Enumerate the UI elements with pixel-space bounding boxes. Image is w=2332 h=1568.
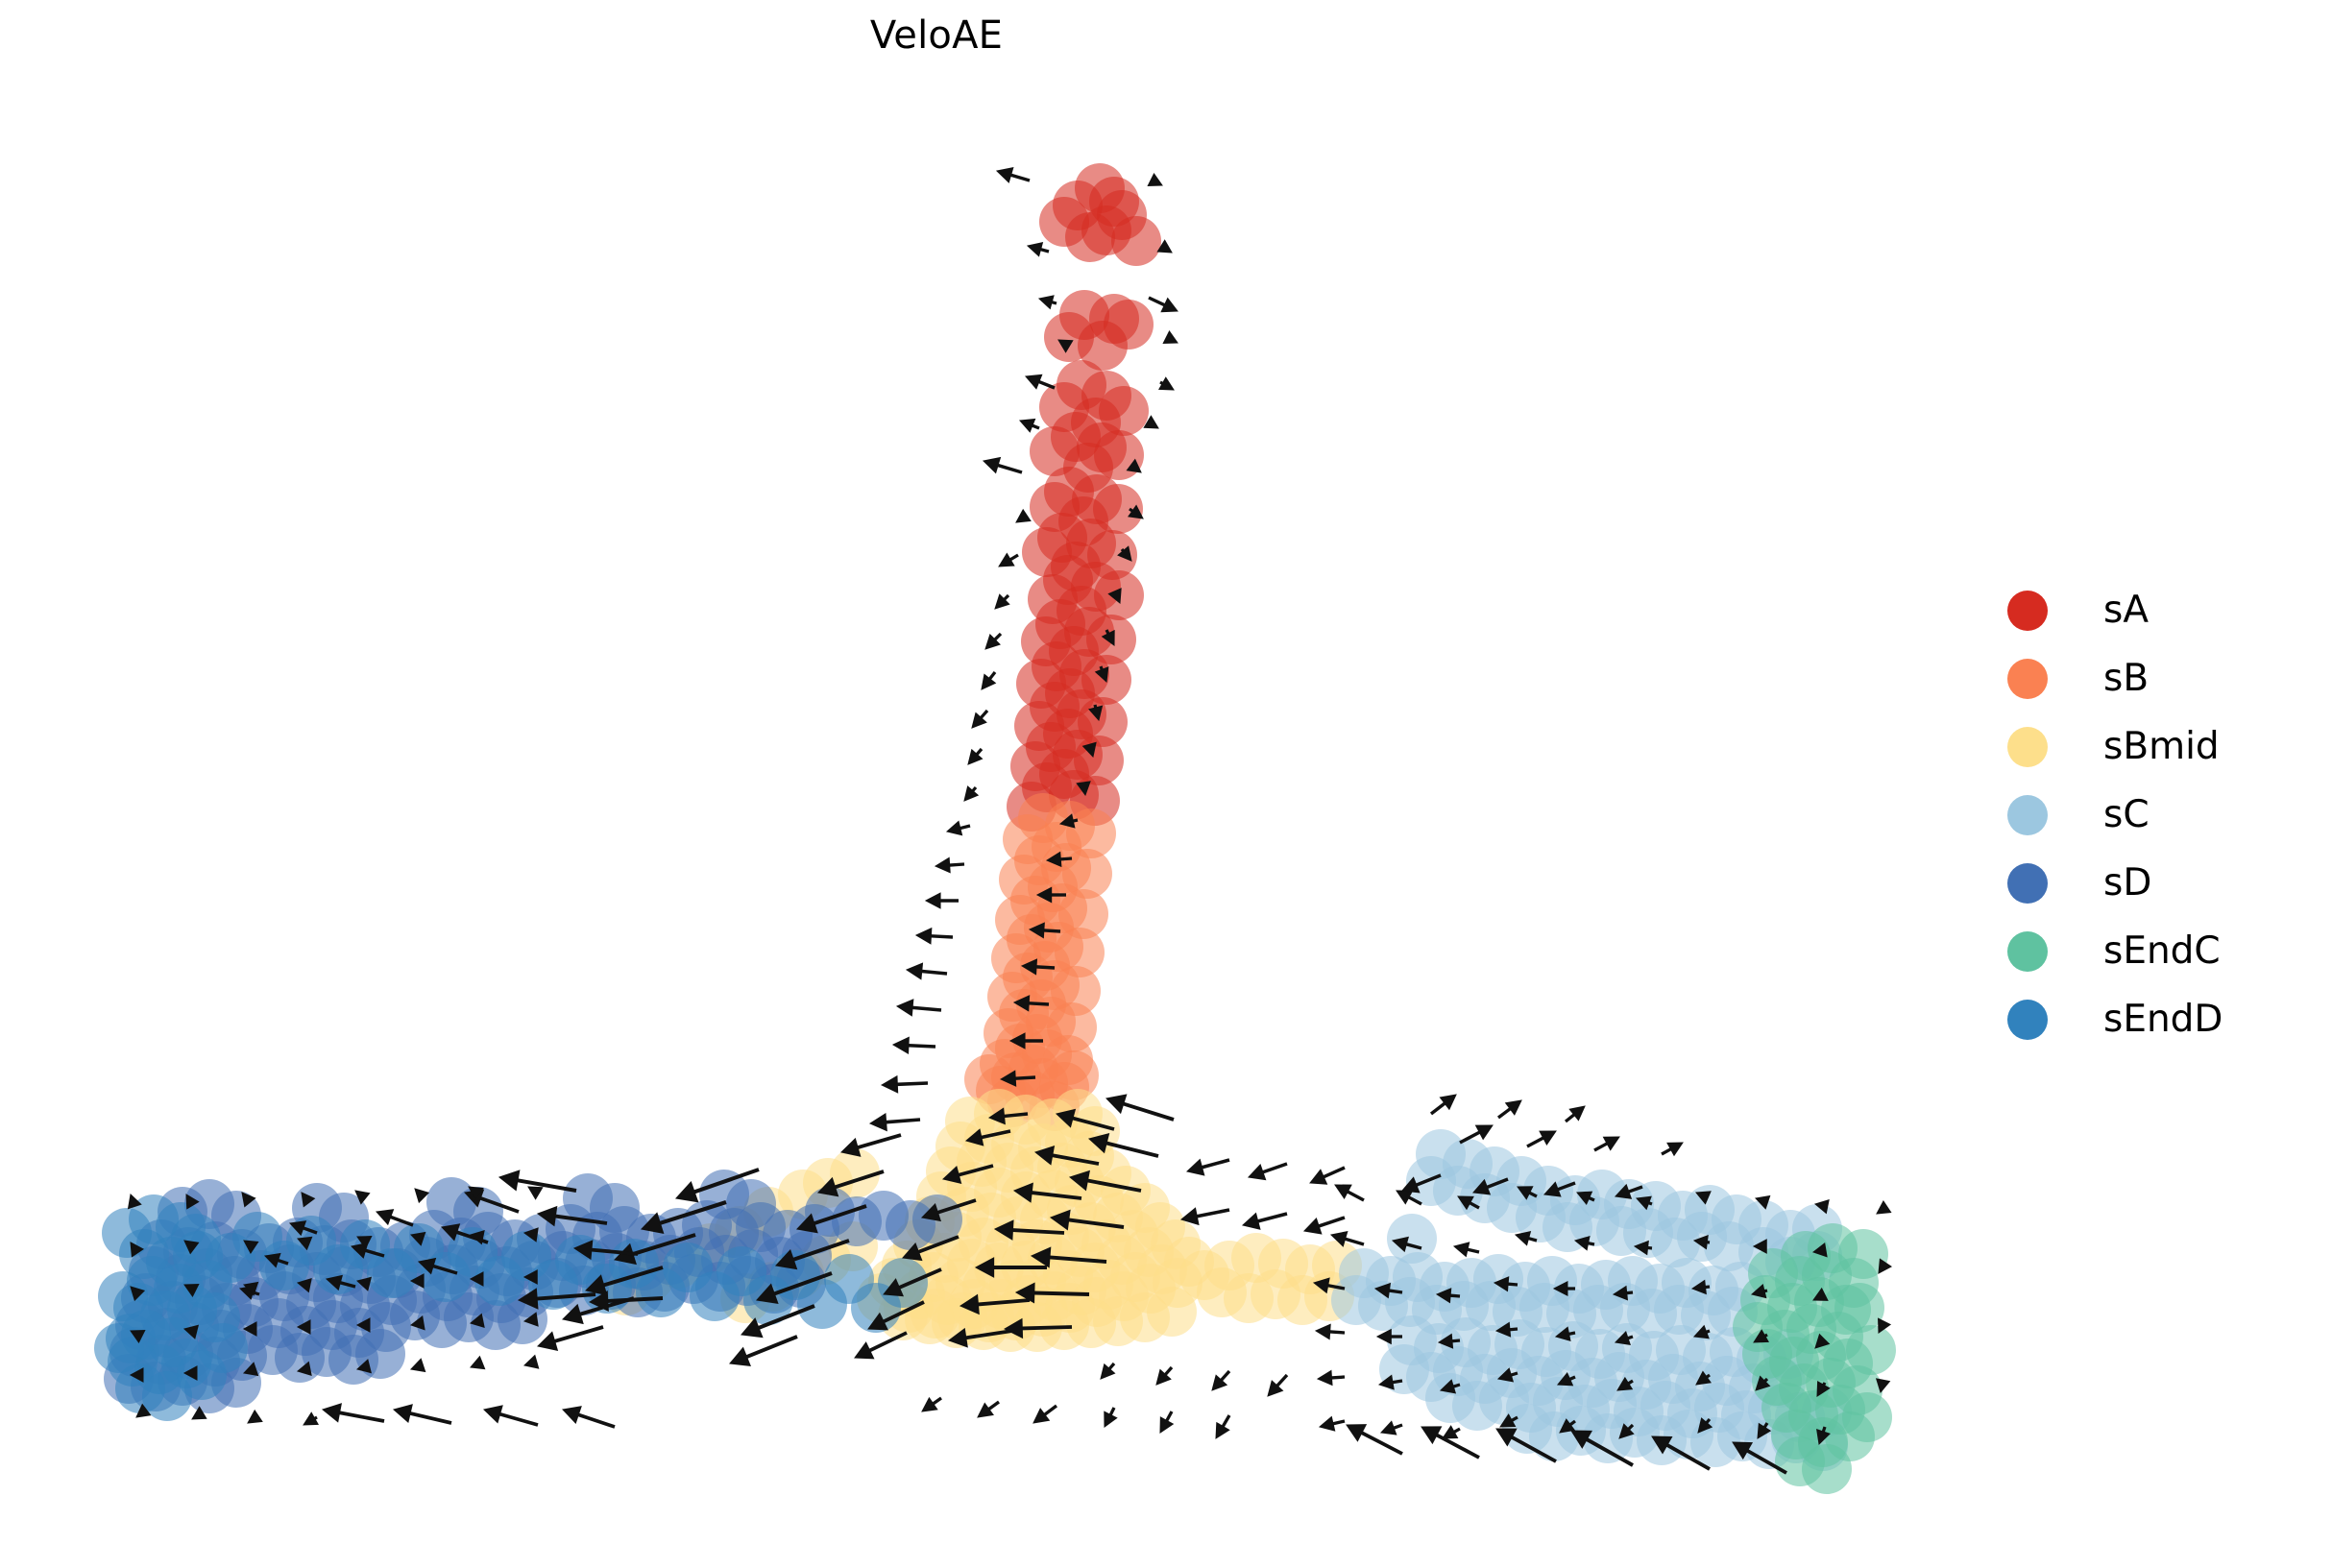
arrow-head: [1304, 1218, 1322, 1234]
arrow-shaft: [1060, 858, 1072, 859]
arrow-head: [471, 1357, 485, 1369]
arrow-shaft: [1594, 1144, 1607, 1150]
arrow-shaft: [1393, 1381, 1402, 1383]
arrow-shaft: [1324, 1168, 1345, 1177]
scatter-point: [1846, 1325, 1896, 1375]
arrow-shaft: [1015, 1077, 1035, 1078]
arrow-shaft: [1130, 509, 1132, 511]
arrow-shaft: [1263, 1164, 1287, 1172]
arrow-shaft: [1823, 1427, 1825, 1432]
arrow-head: [1026, 374, 1042, 388]
velocity-arrow: [1527, 1131, 1556, 1146]
arrow-shaft: [1333, 1421, 1345, 1424]
velocity-arrow: [1106, 1095, 1174, 1120]
arrow-shaft: [950, 864, 964, 865]
velocity-arrow: [882, 1076, 928, 1093]
velocity-arrow: [524, 1356, 539, 1368]
arrow-head: [1028, 243, 1042, 256]
arrow-shaft: [1045, 1406, 1057, 1414]
arrow-shaft: [1106, 630, 1108, 634]
arrow-head: [926, 893, 940, 908]
velocity-arrow: [870, 1114, 920, 1131]
arrow-shaft: [1527, 1138, 1543, 1146]
arrow-head: [984, 458, 1000, 473]
velocity-arrow: [897, 1000, 941, 1016]
velocity-arrow: [1033, 1406, 1057, 1423]
arrow-shaft: [1319, 1218, 1345, 1226]
point-series-sA: [1007, 163, 1161, 832]
arrow-head: [323, 1404, 341, 1422]
velocity-arrow: [1149, 298, 1178, 312]
arrow-head: [1516, 1232, 1530, 1245]
arrow-shaft: [1010, 555, 1018, 560]
point-series-sB: [964, 793, 1116, 1131]
arrow-shaft: [1452, 1340, 1460, 1341]
arrow-head: [1016, 510, 1031, 522]
arrow-head: [882, 1076, 898, 1093]
arrow-shaft: [1277, 1375, 1287, 1386]
scatter-point: [1781, 1231, 1831, 1281]
arrow-head: [1187, 1160, 1204, 1175]
velocity-arrow: [1381, 1421, 1402, 1435]
scatter-point: [1039, 197, 1089, 247]
legend[interactable]: sA sB sBmid sC sD sEndC sEndD: [2007, 576, 2324, 1053]
scatter-plot-canvas[interactable]: [0, 0, 1979, 1568]
arrow-shaft: [1005, 595, 1008, 599]
scatter-svg: [0, 0, 1979, 1568]
velocity-arrow: [1662, 1143, 1683, 1155]
arrow-shaft: [1167, 1411, 1172, 1420]
velocity-arrow: [1039, 296, 1057, 309]
arrow-head: [1163, 331, 1178, 344]
velocity-arrow: [1216, 1415, 1229, 1438]
arrow-shaft: [578, 1414, 615, 1427]
velocity-arrow: [1105, 1408, 1117, 1427]
velocity-arrow: [1020, 420, 1039, 432]
velocity-arrow: [999, 554, 1018, 567]
arrow-shaft: [990, 672, 995, 679]
arrow-shaft: [1529, 1239, 1537, 1241]
arrow-head: [524, 1356, 539, 1368]
scatter-point: [177, 1350, 227, 1400]
scatter-point: [878, 1258, 928, 1308]
arrow-head: [394, 1405, 412, 1422]
velocity-arrow: [1243, 1214, 1287, 1230]
arrow-shaft: [887, 1120, 920, 1122]
velocity-arrow: [415, 1189, 428, 1202]
arrow-shaft: [1566, 1115, 1574, 1122]
velocity-arrow: [1460, 1125, 1493, 1143]
arrow-head: [248, 1411, 262, 1423]
legend-swatch-sEndD: [2007, 1000, 2048, 1040]
arrow-shaft: [1202, 1160, 1229, 1168]
arrow-shaft: [1044, 930, 1060, 931]
arrow-shaft: [1437, 1435, 1479, 1458]
arrow-shaft: [1258, 1214, 1287, 1221]
arrow-shaft: [858, 1135, 901, 1147]
velocity-arrow: [1431, 1095, 1456, 1114]
legend-item-sA[interactable]: sA: [2007, 576, 2324, 644]
arrow-shaft: [1330, 1332, 1345, 1333]
velocity-arrow: [1026, 374, 1055, 388]
arrow-head: [893, 1037, 909, 1053]
legend-label-sB: sB: [2103, 660, 2149, 697]
arrow-shaft: [1511, 1373, 1518, 1375]
arrow-shaft: [1052, 302, 1057, 303]
velocity-arrow: [916, 929, 953, 944]
arrow-shaft: [1022, 1327, 1072, 1328]
velocity-arrow: [1498, 1100, 1521, 1118]
velocity-arrow: [1318, 1370, 1345, 1385]
arrow-shaft: [746, 1337, 797, 1357]
velocity-arrow: [1187, 1160, 1229, 1175]
arrow-head: [676, 1182, 698, 1202]
arrow-shaft: [555, 1327, 603, 1341]
arrow-shaft: [1394, 1425, 1402, 1428]
arrow-head: [997, 168, 1013, 182]
velocity-arrow: [964, 786, 978, 801]
velocity-arrow: [1159, 377, 1174, 390]
arrow-shaft: [1628, 1337, 1633, 1339]
arrow-shaft: [912, 1007, 941, 1010]
arrow-head: [1318, 1370, 1332, 1385]
arrow-head: [377, 1210, 394, 1224]
arrow-shaft: [1765, 1379, 1767, 1381]
velocity-arrow: [935, 857, 964, 872]
velocity-arrow: [1181, 1208, 1229, 1224]
arrow-shaft: [1032, 425, 1039, 428]
arrow-head: [1440, 1095, 1456, 1109]
arrow-head: [528, 1187, 543, 1199]
arrow-shaft: [973, 787, 976, 791]
velocity-arrow: [985, 634, 1001, 649]
velocity-arrow: [1594, 1137, 1619, 1150]
velocity-arrow: [1249, 1164, 1287, 1180]
arrow-shaft: [897, 1083, 928, 1084]
scatter-point: [590, 1183, 640, 1233]
arrow-shaft: [981, 711, 987, 717]
arrow-shaft: [1569, 1333, 1575, 1334]
velocity-arrow: [841, 1135, 901, 1156]
velocity-arrow: [968, 749, 983, 764]
legend-label-sEndC: sEndC: [2103, 932, 2221, 970]
arrow-shaft: [1498, 1109, 1510, 1118]
velocity-arrow: [730, 1337, 797, 1365]
arrow-shaft: [1223, 1415, 1229, 1426]
velocity-arrow: [926, 893, 959, 908]
velocity-arrow: [1316, 1324, 1345, 1339]
velocity-arrow: [377, 1210, 413, 1225]
arrow-head: [1877, 1201, 1891, 1214]
velocity-arrow: [1268, 1375, 1287, 1396]
arrow-shaft: [1011, 175, 1030, 181]
arrow-shaft: [1508, 1284, 1518, 1285]
arrow-shaft: [931, 936, 953, 937]
arrow-head: [1020, 420, 1035, 432]
arrow-shaft: [1589, 1243, 1594, 1244]
arrow-head: [1506, 1100, 1521, 1115]
legend-label-sA: sA: [2103, 591, 2149, 629]
velocity-arrow: [1016, 510, 1031, 522]
legend-item-sEndD[interactable]: sEndD: [2007, 985, 2324, 1053]
legend-swatch-sBmid: [2007, 727, 2048, 767]
arrow-shaft: [1222, 1371, 1229, 1380]
arrow-head: [907, 963, 923, 979]
velocity-arrow: [984, 458, 1022, 473]
arrow-shaft: [1197, 1210, 1229, 1217]
arrow-shaft: [1362, 1433, 1402, 1454]
arrow-head: [1039, 296, 1054, 309]
velocity-arrow: [1566, 1106, 1585, 1122]
arrow-shaft: [1149, 298, 1164, 305]
arrow-shaft: [340, 1412, 384, 1421]
scatter-point: [355, 1329, 405, 1379]
arrow-head: [916, 929, 932, 944]
velocity-arrow: [972, 711, 987, 728]
arrow-shaft: [1165, 1367, 1172, 1374]
scatter-point: [726, 1179, 776, 1229]
velocity-arrow: [394, 1405, 451, 1423]
velocity-arrow: [893, 1037, 935, 1053]
arrow-head: [1320, 1416, 1335, 1431]
arrow-head: [922, 1398, 937, 1411]
arrow-head: [1033, 1409, 1049, 1423]
velocity-arrow: [1212, 1371, 1229, 1390]
arrow-head: [411, 1359, 425, 1371]
arrow-head: [415, 1189, 428, 1202]
legend-item-sC[interactable]: sC: [2007, 781, 2324, 849]
arrow-shaft: [1039, 382, 1055, 388]
arrow-head: [499, 1170, 520, 1191]
velocity-arrow: [1101, 1363, 1115, 1379]
arrow-shaft: [998, 466, 1022, 472]
arrow-shaft: [934, 1398, 941, 1404]
arrow-shaft: [1453, 1385, 1460, 1387]
arrow-shaft: [1570, 1377, 1575, 1379]
velocity-arrow: [907, 963, 947, 979]
arrow-shaft: [909, 1046, 935, 1047]
arrow-head: [1148, 174, 1162, 186]
arrow-shaft: [1707, 1375, 1710, 1377]
arrow-shaft: [1109, 1363, 1114, 1369]
velocity-arrow: [1335, 1185, 1364, 1200]
arrow-shaft: [989, 1402, 999, 1410]
legend-item-sBmid[interactable]: sBmid: [2007, 712, 2324, 781]
arrow-shaft: [1707, 1331, 1710, 1332]
arrow-head: [947, 821, 962, 834]
legend-swatch-sB: [2007, 659, 2048, 699]
velocity-arrow: [248, 1411, 262, 1423]
velocity-arrow: [1028, 243, 1049, 256]
velocity-arrow: [995, 594, 1009, 609]
velocity-arrow: [982, 672, 995, 689]
arrow-shaft: [1124, 1104, 1174, 1120]
scatter-point: [1387, 1214, 1437, 1264]
arrow-head: [1316, 1324, 1330, 1339]
legend-item-sEndC[interactable]: sEndC: [2007, 917, 2324, 985]
arrow-shaft: [1331, 1377, 1345, 1378]
arrow-shaft: [410, 1413, 451, 1423]
arrow-head: [484, 1406, 502, 1423]
scatter-point: [1089, 177, 1139, 227]
arrow-shaft: [1510, 1329, 1518, 1330]
arrow-shaft: [1029, 1003, 1049, 1004]
velocity-arrow: [922, 1398, 941, 1411]
scatter-point: [1834, 1283, 1884, 1333]
legend-item-sD[interactable]: sD: [2007, 849, 2324, 917]
velocity-arrow: [1163, 331, 1178, 344]
arrow-head: [1249, 1165, 1266, 1180]
velocity-arrow: [304, 1412, 318, 1425]
arrow-shaft: [1389, 1291, 1402, 1292]
arrow-shaft: [1041, 250, 1049, 252]
arrow-shaft: [1110, 1408, 1114, 1414]
arrow-shaft: [1454, 1429, 1460, 1432]
velocity-arrow: [538, 1327, 603, 1350]
arrow-head: [563, 1407, 581, 1423]
scatter-point: [1104, 300, 1154, 350]
arrow-shaft: [977, 749, 982, 755]
velocity-arrow: [484, 1406, 538, 1425]
legend-label-sD: sD: [2103, 864, 2151, 902]
arrow-head: [935, 857, 950, 872]
scatter-point: [102, 1208, 152, 1258]
arrow-head: [978, 1403, 993, 1417]
arrow-shaft: [1627, 1292, 1633, 1293]
velocity-arrow: [855, 1333, 907, 1359]
legend-swatch-sA: [2007, 591, 2048, 631]
velocity-arrow: [471, 1357, 485, 1369]
arrow-shaft: [1073, 820, 1078, 821]
legend-label-sC: sC: [2103, 796, 2150, 833]
arrow-head: [897, 1000, 913, 1016]
arrow-shaft: [960, 826, 970, 829]
velocity-arrow: [997, 168, 1030, 182]
arrow-shaft: [1468, 1249, 1479, 1252]
velocity-arrow: [528, 1187, 543, 1199]
legend-item-sB[interactable]: sB: [2007, 644, 2324, 712]
arrow-head: [1377, 1330, 1391, 1344]
arrow-shaft: [1450, 1295, 1460, 1296]
velocity-arrow: [1877, 1201, 1891, 1214]
velocity-arrow: [1156, 1367, 1172, 1385]
velocity-arrow: [978, 1402, 999, 1417]
arrow-shaft: [500, 1414, 538, 1425]
arrow-shaft: [1005, 1114, 1028, 1116]
legend-label-sEndD: sEndD: [2103, 1001, 2223, 1038]
velocity-arrow: [563, 1407, 615, 1427]
velocity-embedding-figure: VeloAE sA sB sBmid sC sD sEndC: [0, 0, 2332, 1568]
velocity-arrow: [1443, 1426, 1460, 1438]
arrow-shaft: [1034, 1292, 1089, 1294]
arrow-shaft: [1662, 1149, 1670, 1154]
arrow-shaft: [1101, 666, 1102, 669]
velocity-arrow: [1304, 1218, 1345, 1234]
arrow-shaft: [1431, 1103, 1445, 1114]
velocity-arrow: [1454, 1242, 1479, 1257]
velocity-arrow: [1320, 1416, 1345, 1431]
arrow-shaft: [1036, 967, 1055, 968]
legend-swatch-sD: [2007, 863, 2048, 904]
scatter-point: [98, 1271, 148, 1321]
legend-swatch-sC: [2007, 795, 2048, 835]
legend-swatch-sEndC: [2007, 931, 2048, 972]
arrow-shaft: [1348, 1192, 1364, 1200]
velocity-arrow: [411, 1359, 425, 1371]
scatter-point: [1775, 1436, 1825, 1486]
arrow-shaft: [995, 634, 1001, 639]
legend-label-sBmid: sBmid: [2103, 728, 2220, 765]
arrow-shaft: [922, 971, 947, 974]
arrow-head: [1243, 1214, 1260, 1230]
velocity-arrow: [323, 1404, 384, 1422]
arrow-shaft: [1649, 1203, 1652, 1204]
velocity-arrow: [1310, 1168, 1345, 1184]
velocity-arrow: [1160, 1411, 1173, 1433]
arrow-head: [1381, 1421, 1397, 1435]
velocity-arrow: [1148, 174, 1162, 186]
arrow-shaft: [1590, 1198, 1594, 1200]
arrow-head: [870, 1114, 887, 1131]
arrow-head: [1106, 1095, 1127, 1113]
arrow-head: [1454, 1242, 1470, 1257]
velocity-arrow: [947, 821, 970, 834]
